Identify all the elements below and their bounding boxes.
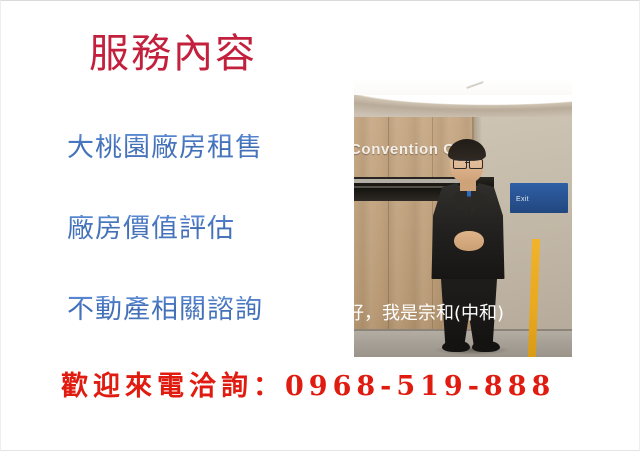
glasses-icon (453, 159, 467, 169)
page-title: 服務內容 (89, 34, 257, 74)
glasses-icon (469, 159, 483, 169)
counter-highlight (354, 179, 466, 183)
slide-canvas: 服務內容 大桃園廠房租售 廠房價值評估 不動產相關諮詢 Convention C… (0, 0, 640, 451)
person-hands (454, 231, 484, 251)
service-item-1: 大桃園廠房租售 (67, 134, 263, 161)
service-item-2: 廠房價值評估 (67, 215, 235, 242)
contact-phone-line: 歡迎來電洽詢：0968-519-888 (61, 372, 555, 402)
ceiling-cove (354, 95, 572, 117)
person-shoe-left (442, 341, 470, 352)
blue-wall-sign-label: Exit (516, 196, 529, 203)
service-item-3: 不動產相關諮詢 (67, 296, 263, 323)
photo-caption: 您好，我是宗和(中和) (328, 304, 504, 324)
person-shoe-right (472, 341, 500, 352)
glasses-icon (465, 162, 469, 163)
